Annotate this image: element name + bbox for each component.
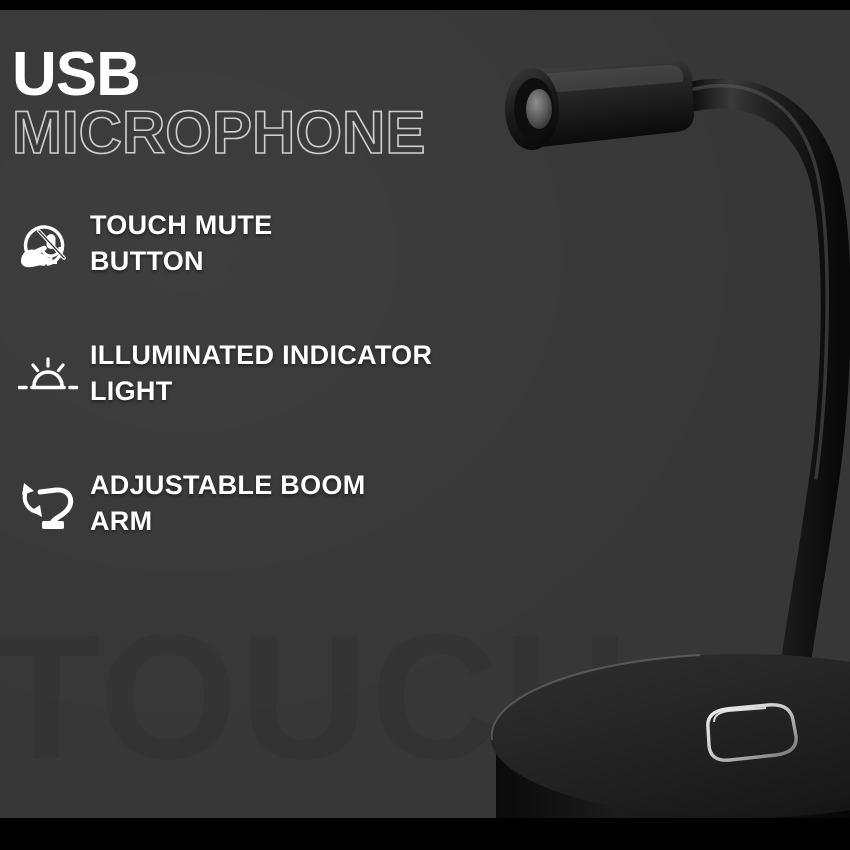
feature-line-2: BUTTON xyxy=(90,244,532,280)
banner-canvas: TOUCH xyxy=(0,10,850,818)
feature-label-indicator-light: ILLUMINATED INDICATOR LIGHT xyxy=(84,338,532,409)
arm-highlight xyxy=(694,86,827,478)
feature-line-2: ARM xyxy=(90,504,532,540)
feature-line-1: ILLUMINATED INDICATOR xyxy=(90,338,532,374)
capsule-front-cap xyxy=(505,68,559,150)
adjustable-boom-arm-icon xyxy=(12,474,84,536)
frame-bottom-bar xyxy=(0,818,850,850)
feature-list: TOUCH MUTE BUTTON xyxy=(12,208,532,558)
illuminated-light-icon xyxy=(12,344,84,406)
feature-line-1: ADJUSTABLE BOOM xyxy=(90,468,532,504)
page-title-usb: USB xyxy=(12,46,425,105)
page-title-microphone: MICROPHONE xyxy=(12,103,425,163)
feature-label-boom-arm: ADJUSTABLE BOOM ARM xyxy=(84,468,532,539)
illuminated-touch-button[interactable] xyxy=(708,705,796,760)
feature-item-touch-mute: TOUCH MUTE BUTTON xyxy=(12,208,532,298)
feature-line-1: TOUCH MUTE xyxy=(90,208,532,244)
gooseneck-boom-arm xyxy=(690,94,836,682)
frame-top-bar xyxy=(0,0,850,10)
feature-label-touch-mute: TOUCH MUTE BUTTON xyxy=(84,208,532,279)
feature-item-indicator-light: ILLUMINATED INDICATOR LIGHT xyxy=(12,338,532,428)
headline-block: USB MICROPHONE xyxy=(12,46,425,163)
touch-button-glow xyxy=(714,708,766,722)
touch-mute-microphone-icon xyxy=(12,214,84,276)
touch-button-ring[interactable] xyxy=(708,705,796,760)
feature-line-2: LIGHT xyxy=(90,374,532,410)
product-feature-banner: TOUCH xyxy=(0,0,850,850)
background-watermark-text: TOUCH xyxy=(0,608,632,786)
feature-item-boom-arm: ADJUSTABLE BOOM ARM xyxy=(12,468,532,558)
microphone-capsule-head xyxy=(505,60,694,150)
microphone-pickup-opening xyxy=(526,89,552,129)
